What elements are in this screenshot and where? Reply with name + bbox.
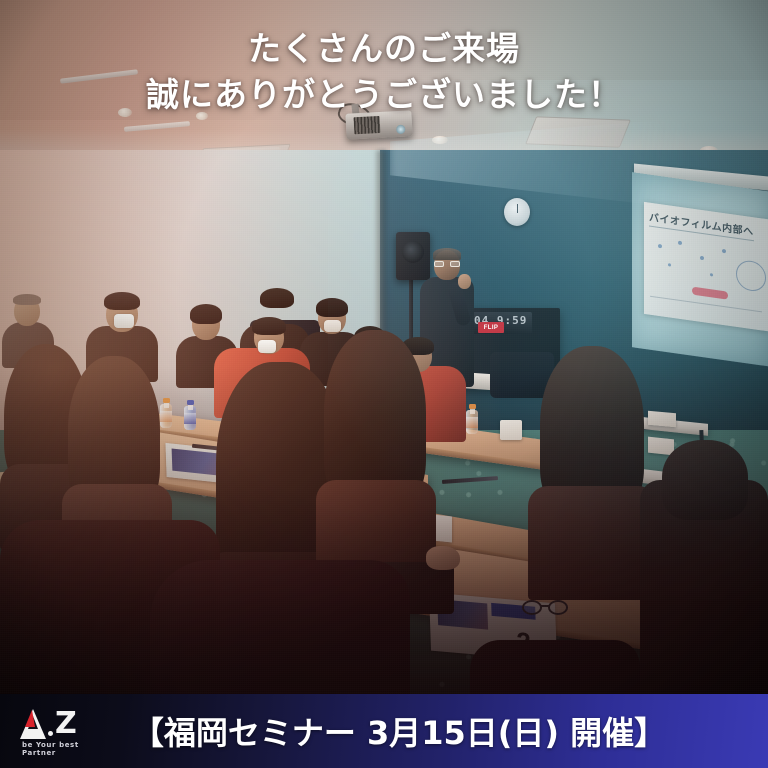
wall-clock-icon: [504, 198, 530, 226]
person-hair: [104, 292, 140, 310]
presentation-slide: バイオフィルム内部へ: [644, 202, 768, 331]
person-hair: [316, 298, 348, 317]
audience-person: [470, 640, 640, 695]
slide-title: バイオフィルム内部へ: [649, 209, 754, 239]
seminar-photo: バイオフィルム内部へ: [0, 0, 768, 695]
projector-grill: [354, 116, 381, 134]
ceiling-projector-icon: [345, 110, 412, 139]
ceiling-downlight: [432, 136, 448, 144]
ceiling-downlight: [196, 112, 208, 120]
hand: [426, 546, 460, 570]
audience-person: [528, 346, 658, 596]
face-mask: [114, 314, 134, 328]
audience-person: [640, 440, 768, 695]
slide-node: [722, 249, 726, 254]
water-bottle: [184, 400, 196, 430]
slide-axis: [650, 296, 762, 313]
audience-person: [316, 330, 436, 570]
presenter-glasses-icon: [434, 261, 460, 267]
person-hair: [13, 294, 41, 305]
slide-node: [710, 273, 713, 276]
ceiling-downlight: [118, 108, 132, 117]
person-hair: [252, 317, 286, 335]
projection-screen: バイオフィルム内部へ: [632, 172, 768, 367]
ceiling-light-slot: [60, 69, 138, 83]
screenshot-root: バイオフィルム内部へ: [0, 0, 768, 768]
slide-node: [668, 263, 671, 266]
footer-banner-text: 【福岡セミナー 3月15日(日) 開催】: [0, 694, 768, 768]
ceiling-light-slot: [124, 121, 190, 132]
slide-node: [658, 244, 662, 249]
slide-node: [678, 241, 682, 246]
projector-lens: [396, 125, 405, 134]
ceiling-vent: [525, 116, 631, 147]
person-torso: [470, 640, 640, 695]
water-bottle: [466, 404, 478, 434]
presenter-hand: [458, 274, 471, 289]
audience-person: [150, 560, 410, 695]
footer-banner: Z be Your best Partner 【福岡セミナー 3月15日(日) …: [0, 694, 768, 768]
slide-circle-graphic: [736, 259, 766, 293]
logo-accent-triangle: [25, 710, 35, 727]
slide-node: [700, 256, 704, 261]
person-torso: [528, 486, 658, 600]
person-torso: [150, 560, 410, 695]
face-mask: [258, 340, 276, 353]
slide-highlight-pill: [692, 287, 728, 300]
person-hair: [662, 440, 748, 520]
eyeglasses-icon: [522, 600, 568, 618]
presenter-hair: [433, 248, 461, 260]
tissue-box: [500, 420, 522, 440]
person-hair: [260, 288, 294, 308]
ceiling: [0, 0, 768, 175]
